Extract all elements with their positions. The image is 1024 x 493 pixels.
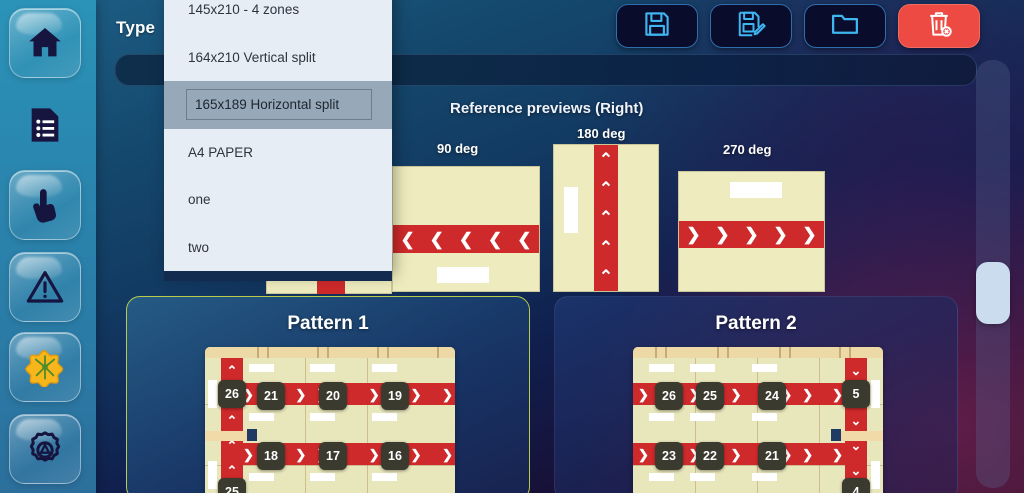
- chevron-right-icon: ❯: [638, 388, 649, 401]
- dropdown-option-selected-label: 165x189 Horizontal split: [186, 89, 372, 120]
- chevron-right-icon: ❯: [442, 388, 453, 401]
- chevron-right-icon: ❯: [295, 388, 306, 401]
- chevron-right-icon: ❯: [686, 226, 700, 243]
- pattern-1-pallet: ⌃ ⌃ ⌃ ⌃ ⌃ ⌃ ❯ ❯ ❯ ❯ ❯ ❯ ❯ ❯ ❯: [205, 347, 455, 493]
- pallet-slot: [690, 364, 715, 372]
- chevron-right-icon: ❯: [442, 448, 453, 461]
- chevron-up-icon: ⌃: [227, 364, 238, 377]
- chevron-right-icon: ❯: [411, 388, 422, 401]
- chevron-right-icon: ❯: [832, 448, 843, 461]
- folder-open-icon: [830, 9, 860, 44]
- hand-pointer-icon: [25, 185, 65, 225]
- dropdown-option-2[interactable]: 165x189 Horizontal split: [164, 81, 392, 129]
- pallet-slot: [752, 413, 777, 421]
- preview-card-270: ❯ ❯ ❯ ❯ ❯: [678, 171, 825, 292]
- pallet-slot: [208, 380, 217, 408]
- gear-icon: [25, 429, 65, 469]
- dropdown-option-3[interactable]: A4 PAPER: [164, 129, 392, 177]
- pattern-2-side-box-1: 4: [842, 478, 870, 493]
- chevron-right-icon: ❯: [744, 226, 758, 243]
- pallet-slot: [249, 364, 274, 372]
- sidebar-item-settings[interactable]: [9, 414, 81, 484]
- chevron-right-icon: ❯: [731, 448, 742, 461]
- pattern-2-box-r1c1: 22: [696, 442, 724, 470]
- pattern-1-title: Pattern 1: [127, 313, 529, 335]
- pattern-2-box-r0c0: 26: [655, 382, 683, 410]
- pallet-slot: [752, 473, 777, 481]
- chevron-left-icon: ❮: [517, 231, 531, 248]
- preview-label-90: 90 deg: [437, 141, 478, 156]
- pattern-1-box-r1c1: 17: [319, 442, 347, 470]
- chevron-down-icon: ⌄: [851, 414, 862, 427]
- pallet-nub: [247, 429, 257, 441]
- pallet-slot: [871, 461, 880, 489]
- preview-card-180: ⌃ ⌃ ⌃ ⌃ ⌃: [553, 144, 659, 292]
- document-list-icon: [25, 105, 65, 145]
- chevron-up-icon: ⌃: [227, 414, 238, 427]
- pattern-2-box-r0c2: 24: [758, 382, 786, 410]
- chevron-left-icon: ❮: [430, 231, 444, 248]
- pattern-2-box-r0c1: 25: [696, 382, 724, 410]
- chevron-right-icon: ❯: [802, 226, 816, 243]
- chevron-right-icon: ❯: [715, 226, 729, 243]
- chevron-right-icon: ❯: [369, 448, 380, 461]
- toolbar: [616, 4, 980, 48]
- preview-stripe-90: ❮ ❮ ❮ ❮ ❮: [393, 225, 539, 253]
- save-button[interactable]: [616, 4, 698, 48]
- pallet-slot: [690, 413, 715, 421]
- preview-card-90: ❮ ❮ ❮ ❮ ❮: [392, 166, 540, 292]
- previews-title: Reference previews (Right): [450, 100, 643, 117]
- pattern-2-pallet: ⌄ ⌄ ⌄ ⌄ ⌄ ⌄ ❯ ❯ ❯ ❯ ❯ ❯ ❯ ❯ ❯: [633, 347, 883, 493]
- delete-button[interactable]: [898, 4, 980, 48]
- preview-slot: [564, 187, 578, 233]
- chevron-down-icon: ⌄: [851, 464, 862, 477]
- chevron-right-icon: ❯: [773, 226, 787, 243]
- chevron-up-icon: ⌃: [599, 239, 613, 256]
- chevron-up-icon: ⌃: [599, 180, 613, 197]
- type-dropdown-list[interactable]: 145x210 - 4 zones 164x210 Vertical split…: [164, 0, 392, 271]
- type-label: Type: [116, 18, 155, 38]
- pallet-nub: [831, 429, 841, 441]
- chevron-up-icon: ⌃: [227, 464, 238, 477]
- pallet-slot: [649, 413, 674, 421]
- sidebar-item-status[interactable]: [9, 332, 81, 402]
- home-icon: [25, 23, 65, 63]
- pallet-slot: [372, 473, 397, 481]
- chevron-up-icon: ⌃: [599, 209, 613, 226]
- pattern-2-box-r1c2: 21: [758, 442, 786, 470]
- pallet-slot: [310, 473, 335, 481]
- dropdown-option-0[interactable]: 145x210 - 4 zones: [164, 0, 392, 34]
- app-root: Type: [0, 0, 1024, 493]
- dropdown-option-4[interactable]: one: [164, 176, 392, 224]
- chevron-right-icon: ❯: [295, 448, 306, 461]
- pallet-slot: [690, 473, 715, 481]
- grid-line: [819, 358, 820, 493]
- pattern-1-box-r1c0: 18: [257, 442, 285, 470]
- warning-triangle-icon: [25, 267, 65, 307]
- preview-slot: [730, 182, 782, 198]
- chevron-down-icon: ⌄: [851, 364, 862, 377]
- pallet-slot: [249, 473, 274, 481]
- pattern-2-vertical-stripe: ⌄ ⌄ ⌄ ⌄ ⌄ ⌄: [845, 358, 867, 493]
- pattern-1-box-r0c2: 19: [381, 382, 409, 410]
- scrollbar-thumb[interactable]: [976, 262, 1010, 324]
- pallet-slot: [372, 364, 397, 372]
- dropdown-shadow-edge: [164, 271, 392, 281]
- chevron-right-icon: ❯: [411, 448, 422, 461]
- preview-label-180: 180 deg: [577, 126, 625, 141]
- pattern-2-side-box-0: 5: [842, 380, 870, 408]
- chevron-right-icon: ❯: [243, 448, 254, 461]
- chevron-right-icon: ❯: [369, 388, 380, 401]
- pattern-1-box-r0c0: 21: [257, 382, 285, 410]
- chevron-right-icon: ❯: [638, 448, 649, 461]
- save-as-button[interactable]: [710, 4, 792, 48]
- pallet-slot: [310, 413, 335, 421]
- preview-label-270: 270 deg: [723, 142, 771, 157]
- chevron-up-icon: ⌃: [599, 268, 613, 285]
- pattern-1-box-r0c1: 20: [319, 382, 347, 410]
- pallet-top-edge: [205, 347, 455, 358]
- sidebar: [0, 0, 96, 493]
- sidebar-item-manual[interactable]: [9, 170, 81, 240]
- pattern-panel-2[interactable]: Pattern 2 ⌄: [554, 296, 958, 493]
- sidebar-item-alarms[interactable]: [9, 252, 81, 322]
- trash-delete-icon: [924, 9, 954, 44]
- grid-line: [305, 358, 306, 493]
- pallet-beam: [205, 431, 249, 441]
- dropdown-option-5[interactable]: two: [164, 224, 392, 272]
- chevron-up-icon: ⌃: [599, 151, 613, 168]
- pallet-slot: [649, 473, 674, 481]
- pallet-slot: [249, 413, 274, 421]
- preview-stripe-270: ❯ ❯ ❯ ❯ ❯: [679, 221, 824, 248]
- pattern-panel-1[interactable]: Pattern 1 ⌃: [126, 296, 530, 493]
- pattern-2-box-r1c0: 23: [655, 442, 683, 470]
- pattern-1-vertical-stripe: ⌃ ⌃ ⌃ ⌃ ⌃ ⌃: [221, 358, 243, 493]
- chevron-right-icon: ❯: [731, 388, 742, 401]
- star-burst-icon: [25, 347, 65, 387]
- pallet-top-edge: [633, 347, 883, 358]
- chevron-left-icon: ❮: [400, 231, 414, 248]
- pattern-1-side-box-1: 25: [218, 478, 246, 493]
- pattern-1-side-box-0: 26: [218, 380, 246, 408]
- pallet-beam: [839, 431, 883, 441]
- pattern-2-title: Pattern 2: [555, 313, 957, 335]
- floppy-pencil-icon: [736, 9, 766, 44]
- open-button[interactable]: [804, 4, 886, 48]
- dropdown-option-1[interactable]: 164x210 Vertical split: [164, 34, 392, 82]
- chevron-right-icon: ❯: [802, 448, 813, 461]
- grid-line: [367, 358, 368, 493]
- chevron-left-icon: ❮: [488, 231, 502, 248]
- pattern-1-box-r1c2: 16: [381, 442, 409, 470]
- pallet-slot: [752, 364, 777, 372]
- pallet-slot: [372, 413, 397, 421]
- chevron-left-icon: ❮: [459, 231, 473, 248]
- preview-slot: [437, 267, 489, 283]
- pallet-slot: [310, 364, 335, 372]
- pallet-slot: [649, 364, 674, 372]
- floppy-disk-icon: [642, 9, 672, 44]
- pallet-slot: [208, 461, 217, 489]
- pallet-slot: [871, 380, 880, 408]
- preview-stripe-180: ⌃ ⌃ ⌃ ⌃ ⌃: [594, 145, 618, 291]
- chevron-right-icon: ❯: [802, 388, 813, 401]
- sidebar-item-orders[interactable]: [9, 90, 81, 160]
- sidebar-item-home[interactable]: [9, 8, 81, 78]
